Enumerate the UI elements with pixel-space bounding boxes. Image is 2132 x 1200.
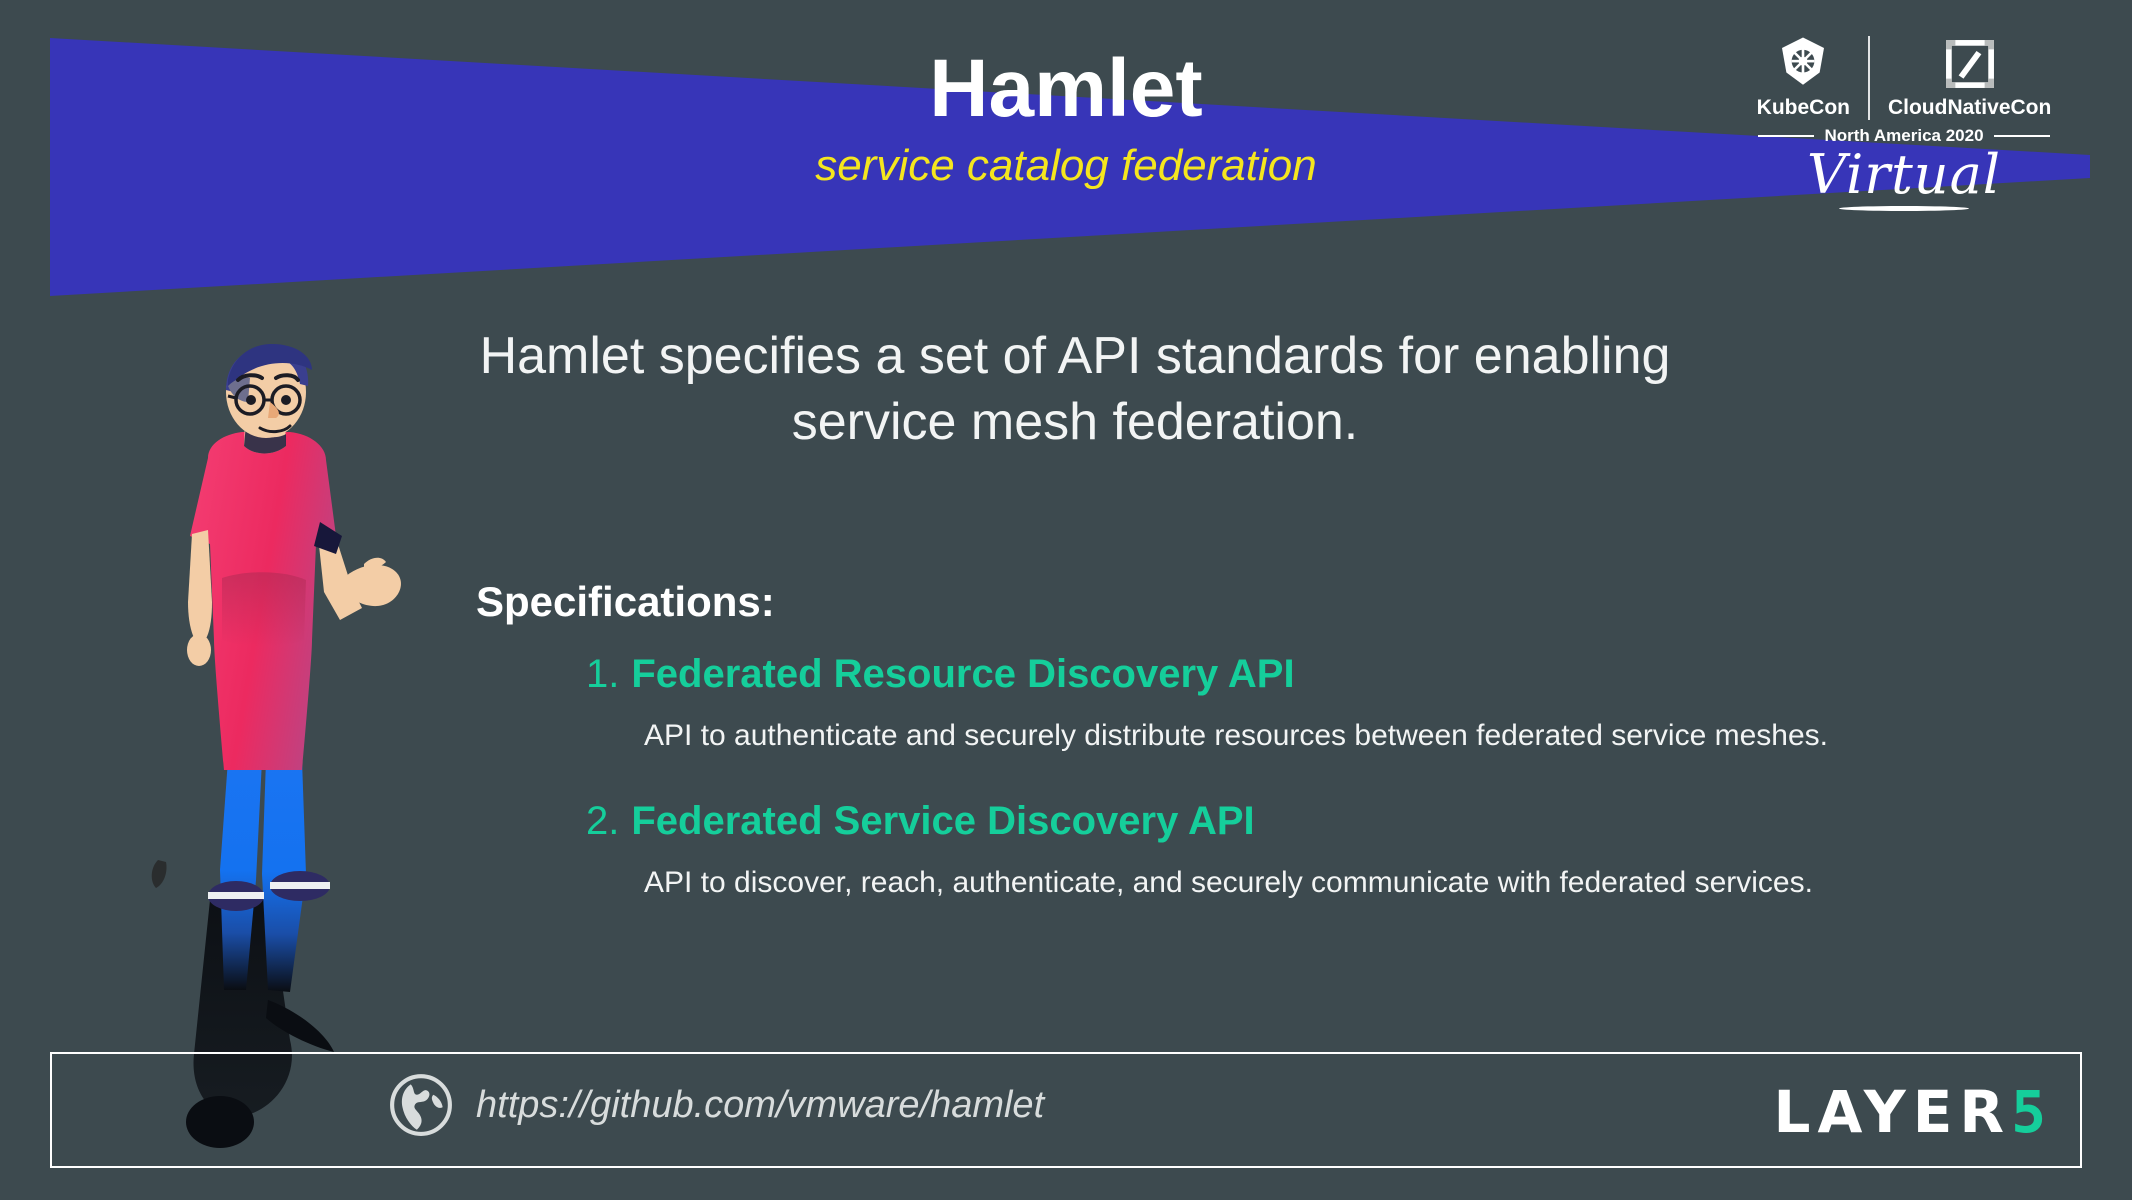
rule-right (1994, 135, 2050, 137)
spec-title-1: Federated Resource Discovery API (631, 652, 1294, 697)
specifications-heading: Specifications: (476, 578, 2036, 626)
slide-root: Hamlet service catalog federation (0, 0, 2132, 1200)
spec-title-row-2: 2. Federated Service Discovery API (586, 799, 2036, 844)
kubecon-cloudnativecon-logo: KubeCon CloudNativeCon North America 202… (1734, 34, 2074, 211)
character-legs (208, 760, 330, 992)
spec-title-row-1: 1. Federated Resource Discovery API (586, 652, 2036, 697)
spec-description-2: API to discover, reach, authenticate, an… (644, 866, 2036, 900)
rule-left (1758, 135, 1814, 137)
lead-paragraph: Hamlet specifies a set of API standards … (430, 324, 1720, 455)
layer5-digit: 5 (2011, 1078, 2046, 1146)
spec-item-1: 1. Federated Resource Discovery API API … (476, 652, 2036, 753)
specifications-section: Specifications: 1. Federated Resource Di… (476, 578, 2036, 946)
footer-url[interactable]: https://github.com/vmware/hamlet (476, 1084, 1044, 1127)
cloudnativecon-square-icon (1944, 38, 1996, 90)
conference-format: Virtual (1734, 148, 2074, 202)
layer5-logo: LAYER 5 (1774, 1078, 2047, 1146)
layer5-word: LAYER (1774, 1078, 2012, 1146)
spec-index-1: 1. (586, 652, 619, 697)
cloudnativecon-label: CloudNativeCon (1888, 96, 2051, 120)
spec-index-2: 2. (586, 799, 619, 844)
spec-item-2: 2. Federated Service Discovery API API t… (476, 799, 2036, 900)
spec-description-1: API to authenticate and securely distrib… (644, 719, 2036, 753)
cloudnativecon-block: CloudNativeCon (1872, 38, 2067, 120)
kubecon-logo-row: KubeCon CloudNativeCon (1734, 34, 2074, 120)
logo-divider (1868, 36, 1870, 120)
footer-link[interactable]: https://github.com/vmware/hamlet (388, 1072, 1044, 1138)
kubernetes-wheel-icon (1775, 34, 1831, 90)
kubecon-block: KubeCon (1741, 34, 1866, 120)
globe-icon (388, 1072, 454, 1138)
spec-title-2: Federated Service Discovery API (631, 799, 1254, 844)
virtual-underline-flourish (1839, 206, 1969, 211)
kubecon-label: KubeCon (1757, 96, 1850, 120)
